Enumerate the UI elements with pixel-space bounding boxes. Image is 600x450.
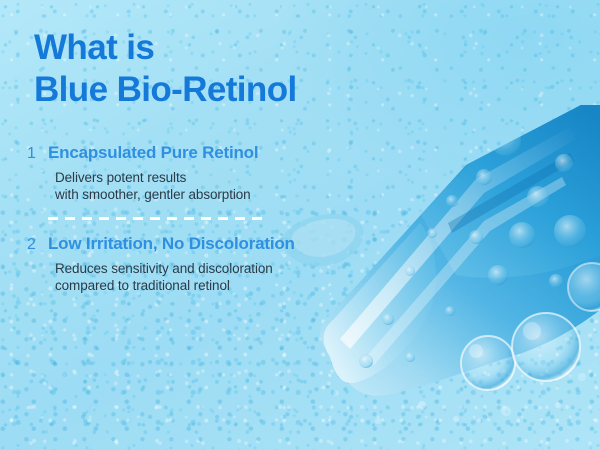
headline-line-1: What is	[34, 27, 297, 69]
benefit-1-body-line-1: Delivers potent results	[55, 169, 380, 186]
bubble-right-glint	[523, 322, 541, 340]
benefit-1-heading: 1 Encapsulated Pure Retinol	[0, 142, 380, 165]
benefit-2-heading: 2 Low Irritation, No Discoloration	[0, 233, 380, 256]
benefit-2-body-line-1: Reduces sensitivity and discoloration	[55, 260, 380, 277]
benefits-list: 1 Encapsulated Pure Retinol Delivers pot…	[0, 142, 380, 294]
benefit-2-body-line-2: compared to traditional retinol	[55, 277, 380, 294]
gel-upper-facet	[420, 105, 600, 278]
gel-dark-streak	[448, 153, 574, 233]
benefit-1-number: 1	[27, 143, 48, 165]
benefit-1-body-line-2: with smoother, gentler absorption	[55, 186, 380, 203]
dashed-divider	[48, 217, 262, 220]
benefit-item-2: 2 Low Irritation, No Discoloration Reduc…	[0, 233, 380, 294]
benefit-item-1: 1 Encapsulated Pure Retinol Delivers pot…	[0, 142, 380, 203]
promo-graphic: What is Blue Bio-Retinol 1 Encapsulated …	[0, 0, 600, 450]
benefit-1-description: Delivers potent results with smoother, g…	[55, 169, 380, 203]
text-column: What is Blue Bio-Retinol 1 Encapsulated …	[0, 0, 380, 450]
large-bubble-right	[512, 313, 580, 381]
benefit-2-number: 2	[27, 234, 48, 256]
benefit-2-title: Low Irritation, No Discoloration	[48, 233, 295, 255]
gel-inner-ridge	[366, 177, 566, 365]
page-title: What is Blue Bio-Retinol	[34, 27, 297, 111]
gel-inner-bubbles	[359, 126, 586, 368]
large-bubble-left	[461, 336, 515, 390]
headline-line-2: Blue Bio-Retinol	[34, 69, 297, 111]
benefit-2-description: Reduces sensitivity and discoloration co…	[55, 260, 380, 294]
edge-bubble	[568, 263, 600, 311]
bubble-left-glint	[469, 344, 483, 358]
benefit-1-title: Encapsulated Pure Retinol	[48, 142, 258, 164]
